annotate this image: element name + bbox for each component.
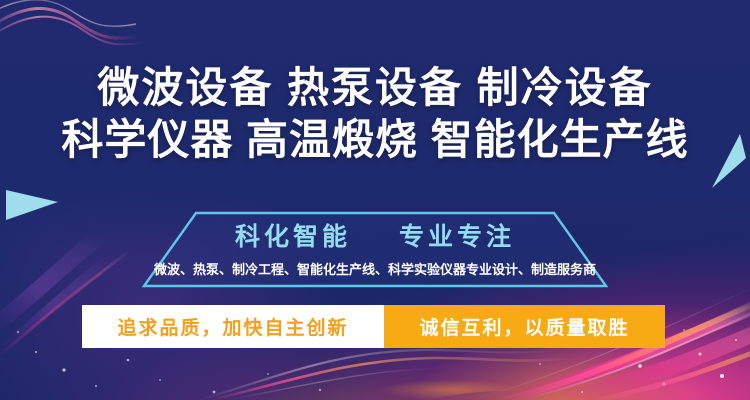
slogan-right: 专业专注 <box>399 223 515 251</box>
headline-line-1: 微波设备 热泵设备 制冷设备 <box>0 62 750 114</box>
panel-subtitle: 微波、热泵、制冷工程、智能化生产线、科学实验仪器专业设计、制造服务商 <box>0 262 750 278</box>
promo-banner: 微波设备 热泵设备 制冷设备 科学仪器 高温煅烧 智能化生产线 科化智能 专业专… <box>0 0 750 400</box>
slogan-text: 科化智能 专业专注 <box>0 222 750 252</box>
headline-line-2: 科学仪器 高温煅烧 智能化生产线 <box>0 114 750 166</box>
strip-quality: 追求品质，加快自主创新 <box>82 305 384 348</box>
bottom-strips: 追求品质，加快自主创新 诚信互利，以质量取胜 <box>82 305 665 348</box>
strip-integrity: 诚信互利，以质量取胜 <box>384 305 665 348</box>
slogan-panel: 科化智能 专业专注 微波、热泵、制冷工程、智能化生产线、科学实验仪器专业设计、制… <box>0 210 750 292</box>
slogan-left: 科化智能 <box>235 223 351 251</box>
banner-headline: 微波设备 热泵设备 制冷设备 科学仪器 高温煅烧 智能化生产线 <box>0 62 750 166</box>
